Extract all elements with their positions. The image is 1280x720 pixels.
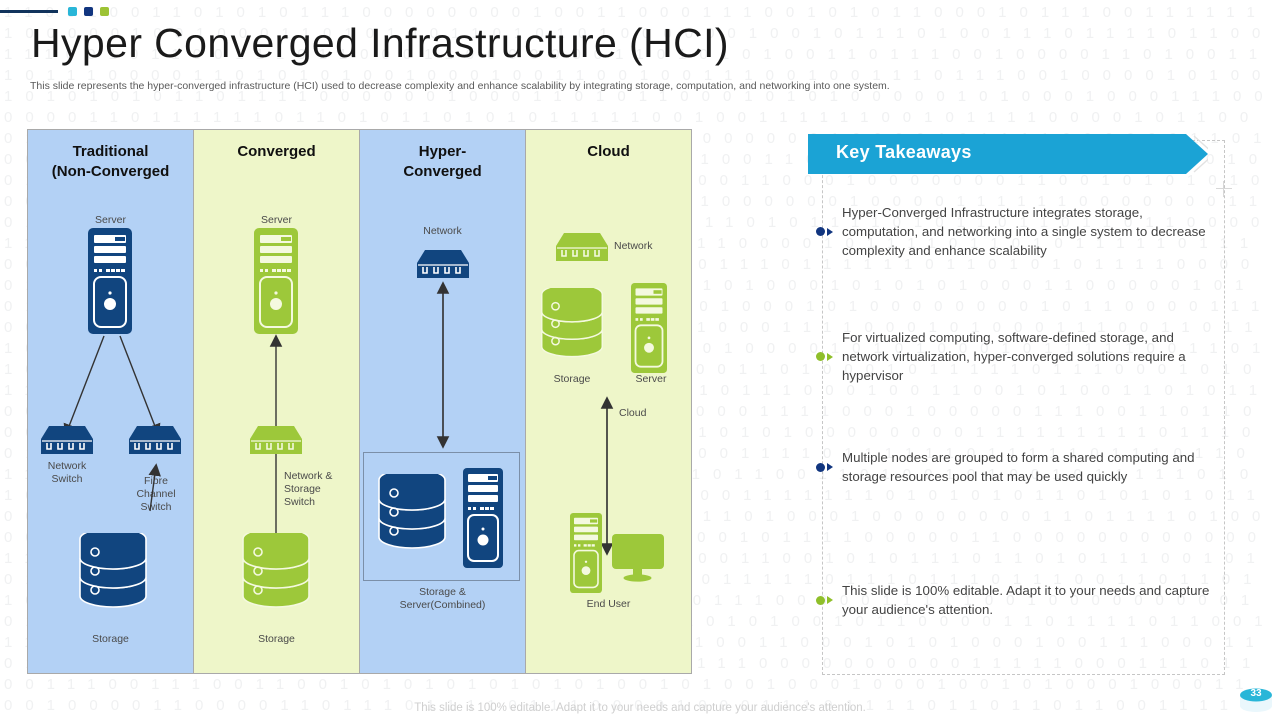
column-title-hyper-converged: Hyper- Converged — [360, 142, 525, 183]
double-arrow-network-to-node — [360, 280, 526, 452]
bullet-triangle-icon — [827, 596, 833, 604]
takeaway-text-4: This slide is 100% editable. Adapt it to… — [842, 581, 1216, 619]
accent-square-green — [100, 7, 109, 16]
bullet-dot-icon — [816, 352, 825, 361]
storage-icon-hyper — [376, 474, 448, 571]
server-icon-cloud — [628, 283, 670, 378]
takeaway-item-1: Hyper-Converged Infrastructure integrate… — [816, 203, 1216, 260]
takeaway-item-2: For virtualized computing, software-defi… — [816, 328, 1216, 385]
footer-note: This slide is 100% editable. Adapt it to… — [0, 702, 1280, 714]
server-icon-traditional — [85, 228, 135, 339]
bullet-marker-1 — [816, 227, 842, 236]
diagram-column-converged: Converged Server — [194, 129, 360, 674]
takeaway-text-1: Hyper-Converged Infrastructure integrate… — [842, 203, 1216, 260]
page-subtitle: This slide represents the hyper-converge… — [30, 80, 890, 92]
header-accent-rule — [0, 10, 58, 13]
label-storage-cloud: Storage — [540, 373, 604, 386]
bullet-triangle-icon — [827, 463, 833, 471]
network-switch-icon-cloud — [554, 230, 610, 269]
bullet-marker-2 — [816, 352, 842, 361]
column-title-cloud: Cloud — [526, 142, 691, 162]
label-cloud: Cloud — [619, 407, 679, 420]
server-icon-converged — [251, 228, 301, 339]
label-storage-converged: Storage — [194, 633, 359, 646]
bullet-triangle-icon — [827, 353, 833, 361]
bullet-dot-icon — [816, 463, 825, 472]
column-title-traditional: Traditional (Non-Converged — [28, 142, 193, 183]
bullet-dot-icon — [816, 227, 825, 236]
label-server-traditional: Server — [28, 214, 193, 227]
label-storage-traditional: Storage — [28, 633, 193, 646]
storage-icon-converged — [240, 533, 312, 630]
takeaway-text-3: Multiple nodes are grouped to form a sha… — [842, 448, 1216, 486]
storage-icon-cloud — [539, 288, 605, 379]
end-user-monitor-icon — [611, 534, 665, 587]
label-network-hyper: Network — [360, 225, 525, 238]
takeaway-text-2: For virtualized computing, software-defi… — [842, 328, 1216, 385]
diagram-column-cloud: Cloud Network — [526, 129, 692, 674]
diagram-column-traditional: Traditional (Non-Converged Server — [27, 129, 194, 674]
takeaway-item-4: This slide is 100% editable. Adapt it to… — [816, 581, 1216, 619]
bullet-marker-4 — [816, 596, 842, 605]
key-takeaways-heading: Key Takeaways — [836, 142, 972, 163]
architecture-comparison-diagram: Traditional (Non-Converged Server — [27, 129, 692, 674]
registration-tick-horizontal — [1216, 188, 1232, 189]
accent-square-navy — [84, 7, 93, 16]
label-storage-server-combined: Storage & Server(Combined) — [360, 586, 525, 612]
label-network-cloud: Network — [614, 240, 684, 253]
bullet-triangle-icon — [827, 228, 833, 236]
takeaway-item-3: Multiple nodes are grouped to form a sha… — [816, 448, 1216, 486]
label-end-user: End User — [526, 598, 691, 611]
bullet-marker-3 — [816, 463, 842, 472]
page-number: 33 — [1238, 688, 1274, 699]
label-server-converged: Server — [194, 214, 359, 227]
label-server-cloud: Server — [621, 373, 681, 386]
diagram-column-hyper-converged: Hyper- Converged Network — [360, 129, 526, 674]
page-title: Hyper Converged Infrastructure (HCI) — [31, 20, 729, 67]
accent-square-cyan — [68, 7, 77, 16]
registration-tick-vertical — [1223, 181, 1224, 197]
end-user-tower-icon — [567, 513, 605, 598]
storage-icon-traditional — [77, 533, 149, 630]
server-icon-hyper — [460, 468, 506, 573]
bullet-dot-icon — [816, 596, 825, 605]
column-title-converged: Converged — [194, 142, 359, 162]
